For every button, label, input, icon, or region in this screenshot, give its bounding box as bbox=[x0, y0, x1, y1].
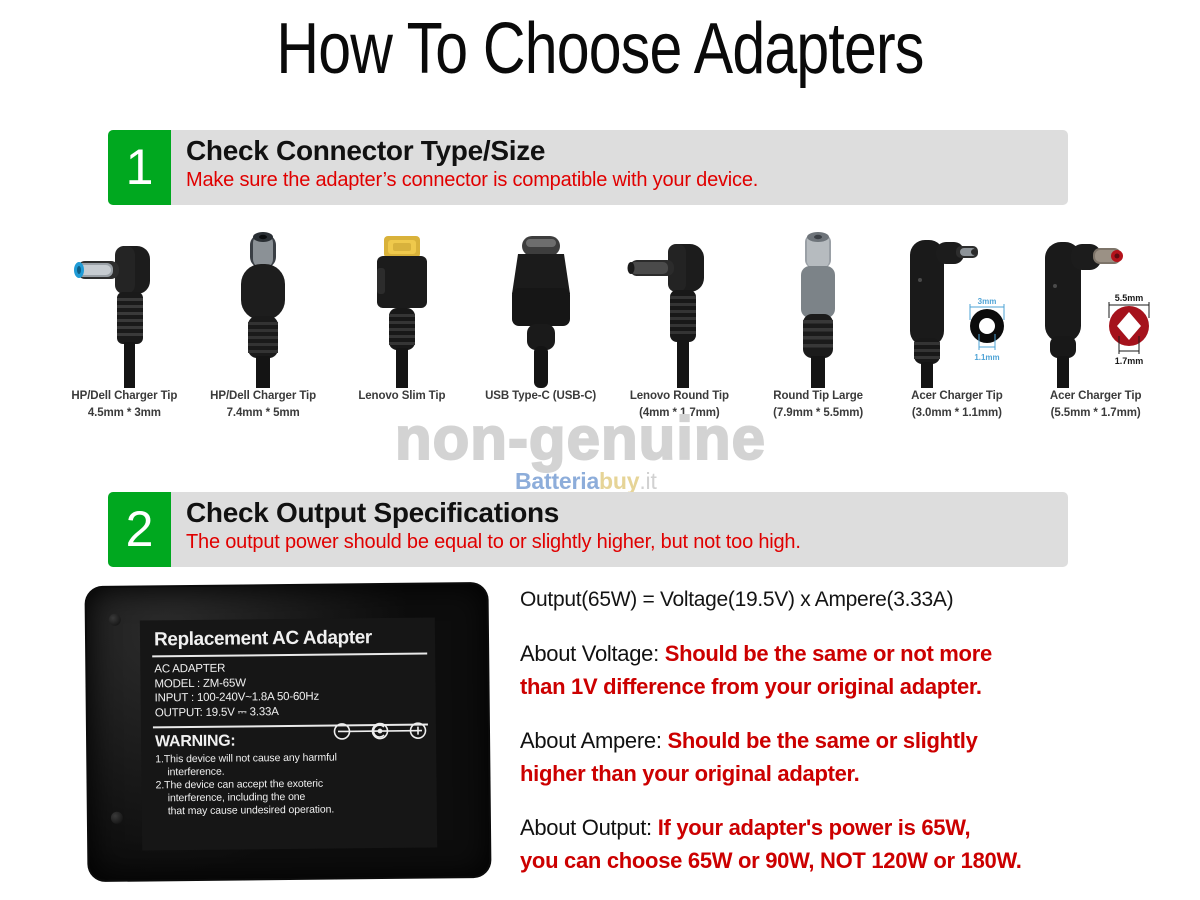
acer-large-tip-icon: 5.5mm 1.7mm bbox=[1027, 228, 1165, 388]
svg-text:3mm: 3mm bbox=[978, 297, 997, 306]
step-1-subheading: Make sure the adapter’s connector is com… bbox=[186, 167, 1060, 193]
connector-name: HP/Dell Charger Tip bbox=[71, 388, 177, 405]
connector-item[interactable]: 3mm 1.1mm Acer Charger Tip (3.0mm * 1.1m… bbox=[888, 228, 1027, 443]
spec-value-line2: than 1V difference from your original ad… bbox=[520, 674, 982, 699]
spec-about-output: About Output: If your adapter's power is… bbox=[520, 811, 1180, 877]
page-title: How To Choose Adapters bbox=[108, 8, 1092, 90]
infographic-page: How To Choose Adapters 1 Check Connector… bbox=[0, 0, 1200, 900]
hp-blue-tip-icon bbox=[55, 228, 193, 388]
step-2-heading: Check Output Specifications bbox=[186, 496, 1060, 529]
connector-name: USB Type-C (USB-C) bbox=[485, 388, 596, 405]
brand-watermark-part1: Batteria bbox=[515, 468, 599, 494]
adapter-spec-label: Replacement AC Adapter AC ADAPTER MODEL … bbox=[140, 617, 437, 850]
ac-adapter-image: Replacement AC Adapter AC ADAPTER MODEL … bbox=[88, 578, 503, 896]
adapter-casing: Replacement AC Adapter AC ADAPTER MODEL … bbox=[86, 584, 489, 880]
lenovo-round-tip-icon bbox=[610, 228, 748, 388]
brand-watermark-part2: buy bbox=[599, 468, 639, 494]
spec-value-line2: higher than your original adapter. bbox=[520, 761, 859, 786]
step-2-header-band: 2 Check Output Specifications The output… bbox=[108, 492, 1068, 567]
connector-name: Acer Charger Tip bbox=[1050, 388, 1142, 405]
step-1-header-band: 1 Check Connector Type/Size Make sure th… bbox=[108, 130, 1068, 205]
spec-key: About Output: bbox=[520, 815, 658, 840]
usb-type-c-icon bbox=[472, 228, 610, 388]
connector-size: (4mm * 1.7mm) bbox=[639, 405, 720, 422]
hp-large-tip-icon bbox=[194, 228, 332, 388]
connector-size: (3.0mm * 1.1mm) bbox=[912, 405, 1002, 422]
connector-name: Lenovo Slim Tip bbox=[358, 388, 445, 405]
step-1-text-group: Check Connector Type/Size Make sure the … bbox=[186, 134, 1060, 193]
spec-value-line1: If your adapter's power is 65W, bbox=[658, 815, 971, 840]
step-2-text-group: Check Output Specifications The output p… bbox=[186, 496, 1060, 555]
svg-text:5.5mm: 5.5mm bbox=[1114, 293, 1143, 303]
adapter-warning-line: that may cause undesired operation. bbox=[168, 803, 431, 819]
adapter-label-title: Replacement AC Adapter bbox=[154, 626, 429, 653]
connector-name: Acer Charger Tip bbox=[911, 388, 1003, 405]
connector-item[interactable]: HP/Dell Charger Tip 7.4mm * 5mm bbox=[194, 228, 333, 443]
connector-name: Lenovo Round Tip bbox=[630, 388, 729, 405]
connector-size: 4.5mm * 3mm bbox=[88, 405, 161, 422]
connector-item[interactable]: Lenovo Slim Tip bbox=[333, 228, 472, 443]
step-1-heading: Check Connector Type/Size bbox=[186, 134, 1060, 167]
connector-item[interactable]: 5.5mm 1.7mm Acer Charger Tip (5.5mm * 1.… bbox=[1026, 228, 1165, 443]
step-2-number: 2 bbox=[108, 492, 171, 567]
svg-text:1.1mm: 1.1mm bbox=[974, 353, 999, 362]
connector-item[interactable]: Lenovo Round Tip (4mm * 1.7mm) bbox=[610, 228, 749, 443]
spec-value-line1: Should be the same or not more bbox=[665, 641, 992, 666]
connector-gallery: HP/Dell Charger Tip 4.5mm * 3mm bbox=[55, 228, 1165, 443]
connector-item[interactable]: USB Type-C (USB-C) bbox=[471, 228, 610, 443]
step-1-number: 1 bbox=[108, 130, 171, 205]
screw-icon bbox=[111, 812, 123, 824]
lenovo-slim-rectangular-tip-icon bbox=[333, 228, 471, 388]
connector-item[interactable]: HP/Dell Charger Tip 4.5mm * 3mm bbox=[55, 228, 194, 443]
spec-value-line2: you can choose 65W or 90W, NOT 120W or 1… bbox=[520, 848, 1022, 873]
spec-about-ampere: About Ampere: Should be the same or slig… bbox=[520, 724, 1180, 790]
spec-key: About Voltage: bbox=[520, 641, 665, 666]
output-spec-text-block: Output(65W) = Voltage(19.5V) x Ampere(3.… bbox=[520, 585, 1180, 898]
screw-icon bbox=[109, 614, 121, 626]
connector-item[interactable]: Round Tip Large (7.9mm * 5.5mm) bbox=[749, 228, 888, 443]
adapter-label-line-4: OUTPUT: 19.5V ⎓ 3.33A bbox=[155, 703, 430, 720]
connector-size: (5.5mm * 1.7mm) bbox=[1051, 405, 1141, 422]
spec-about-voltage: About Voltage: Should be the same or not… bbox=[520, 637, 1180, 703]
connector-size: (7.9mm * 5.5mm) bbox=[773, 405, 863, 422]
connector-name: HP/Dell Charger Tip bbox=[210, 388, 316, 405]
output-equation: Output(65W) = Voltage(19.5V) x Ampere(3.… bbox=[520, 585, 1180, 615]
label-divider bbox=[152, 653, 427, 658]
acer-small-tip-icon: 3mm 1.1mm bbox=[888, 228, 1026, 388]
round-tip-large-icon bbox=[749, 228, 887, 388]
spec-value-line1: Should be the same or slightly bbox=[667, 728, 977, 753]
svg-text:1.7mm: 1.7mm bbox=[1114, 356, 1143, 366]
brand-watermark: Batteriabuy.it bbox=[515, 468, 657, 495]
polarity-symbol-icon bbox=[332, 721, 428, 742]
brand-watermark-part3: .it bbox=[639, 468, 656, 494]
spec-key: About Ampere: bbox=[520, 728, 667, 753]
step-2-subheading: The output power should be equal to or s… bbox=[186, 529, 1060, 555]
connector-name: Round Tip Large bbox=[773, 388, 863, 405]
connector-size: 7.4mm * 5mm bbox=[227, 405, 300, 422]
